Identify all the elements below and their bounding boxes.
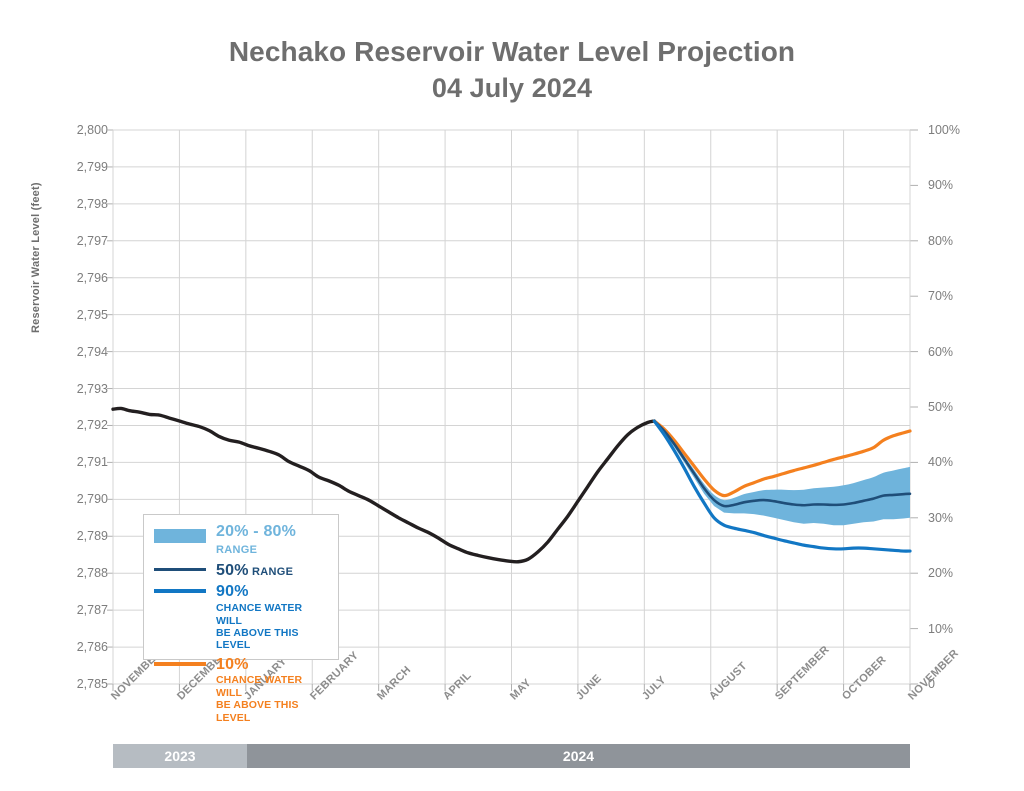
legend-swatch [154,563,210,571]
legend-item: 50% RANGE [154,563,328,580]
legend-swatch-mark [154,589,206,593]
legend-label-main: 10% [216,657,328,674]
legend-item: 20% - 80% RANGE [154,524,328,558]
legend-text: 50% RANGE [210,563,293,580]
legend-label-main: 50% RANGE [216,563,293,580]
legend-swatch-mark [154,568,206,571]
chart-root: Nechako Reservoir Water Level Projection… [0,0,1024,791]
year-segment-2023: 2023 [113,744,247,768]
legend-item: 90%CHANCE WATER WILLBE ABOVE THIS LEVEL [154,584,328,651]
legend-swatch-mark [154,529,206,543]
legend-item: 10%CHANCE WATER WILLBE ABOVE THIS LEVEL [154,657,328,724]
legend-swatch-mark [154,662,206,666]
legend-text: 90%CHANCE WATER WILLBE ABOVE THIS LEVEL [210,584,328,651]
chart-legend: 20% - 80% RANGE50% RANGE90%CHANCE WATER … [143,514,339,660]
legend-swatch [154,584,210,593]
legend-label-main: 90% [216,584,328,601]
legend-text: 10%CHANCE WATER WILLBE ABOVE THIS LEVEL [210,657,328,724]
legend-swatch [154,524,210,543]
legend-label-suffix: RANGE [249,566,294,578]
legend-swatch [154,657,210,666]
year-bar: 2023 2024 [113,744,910,768]
legend-label-suffix: RANGE [216,544,257,556]
year-segment-2024: 2024 [247,744,910,768]
legend-label-sub: CHANCE WATER WILLBE ABOVE THIS LEVEL [216,602,328,652]
legend-text: 20% - 80% RANGE [210,524,328,558]
legend-label-main: 20% - 80% RANGE [216,524,328,558]
legend-label-sub: CHANCE WATER WILLBE ABOVE THIS LEVEL [216,674,328,724]
